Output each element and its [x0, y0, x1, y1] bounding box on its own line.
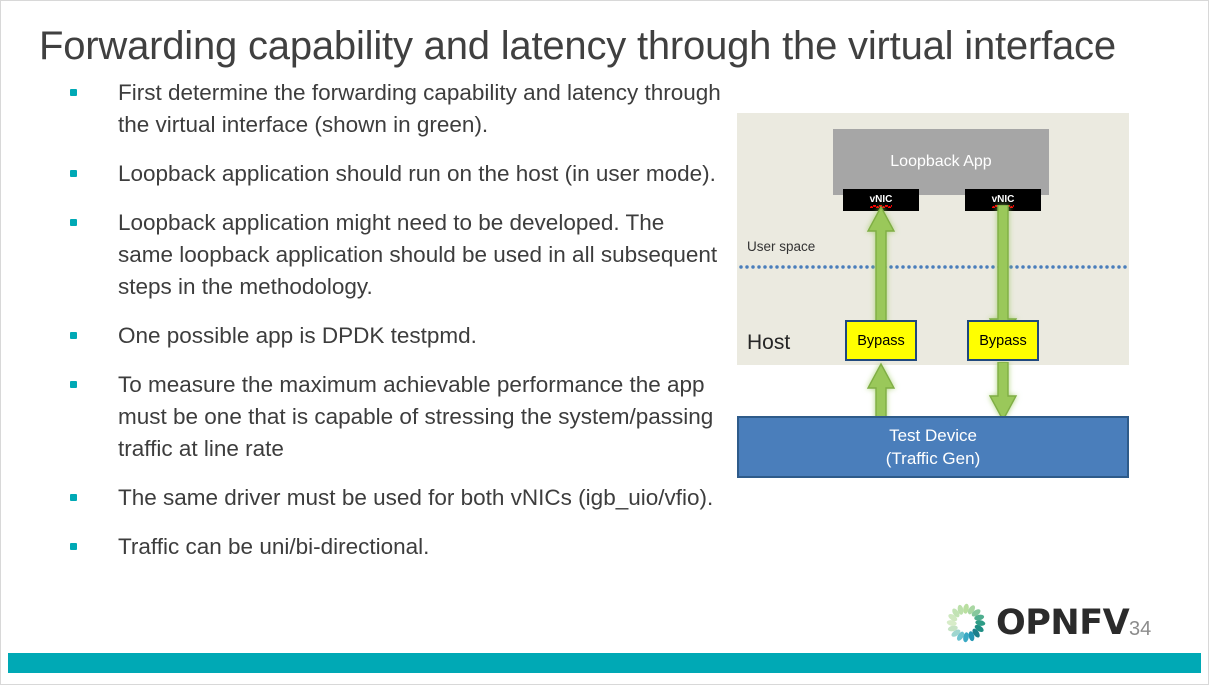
arrow-right-lower	[987, 362, 1019, 422]
list-item-text: First determine the forwarding capabilit…	[118, 77, 723, 141]
test-device-line2: (Traffic Gen)	[886, 447, 980, 470]
bullet-marker-icon	[70, 89, 77, 96]
slide: Forwarding capability and latency throug…	[0, 0, 1209, 685]
footer-accent-bar	[8, 653, 1201, 673]
user-kernel-separator	[739, 265, 1129, 269]
test-device-box: Test Device (Traffic Gen)	[737, 416, 1129, 478]
list-item-text: The same driver must be used for both vN…	[118, 482, 723, 514]
bypass-label: Bypass	[857, 333, 905, 349]
list-item: One possible app is DPDK testpmd.	[63, 320, 723, 352]
bypass-box-right: Bypass	[967, 320, 1039, 361]
list-item: First determine the forwarding capabilit…	[63, 77, 723, 141]
bullet-marker-icon	[70, 332, 77, 339]
opnfv-wordmark: OPNFV	[996, 603, 1129, 643]
list-item-text: Traffic can be uni/bi-directional.	[118, 531, 723, 563]
list-item: To measure the maximum achievable perfor…	[63, 369, 723, 465]
page-title: Forwarding capability and latency throug…	[39, 21, 1149, 71]
list-item: Loopback application should run on the h…	[63, 158, 723, 190]
bullet-marker-icon	[70, 170, 77, 177]
architecture-diagram: Loopback App vNIC vNIC User space Host B…	[737, 113, 1131, 479]
page-number: 34	[1129, 618, 1151, 641]
list-item: Loopback application might need to be de…	[63, 207, 723, 303]
user-space-label: User space	[747, 239, 815, 254]
bypass-label: Bypass	[979, 333, 1027, 349]
opnfv-petal-burst-icon	[944, 602, 988, 644]
bullet-marker-icon	[70, 494, 77, 501]
bullet-marker-icon	[70, 543, 77, 550]
list-item-text: Loopback application should run on the h…	[118, 158, 723, 190]
list-item-text: Loopback application might need to be de…	[118, 207, 723, 303]
list-item-text: To measure the maximum achievable perfor…	[118, 369, 723, 465]
bullet-marker-icon	[70, 381, 77, 388]
bullet-list: First determine the forwarding capabilit…	[63, 77, 723, 580]
opnfv-logo: OPNFV	[944, 602, 1129, 644]
bullet-marker-icon	[70, 219, 77, 226]
list-item: The same driver must be used for both vN…	[63, 482, 723, 514]
host-label: Host	[747, 331, 790, 355]
bypass-box-left: Bypass	[845, 320, 917, 361]
list-item: Traffic can be uni/bi-directional.	[63, 531, 723, 563]
list-item-text: One possible app is DPDK testpmd.	[118, 320, 723, 352]
test-device-line1: Test Device	[889, 424, 977, 447]
loopback-app-box: Loopback App	[833, 129, 1049, 195]
arrow-left-lower	[865, 362, 897, 422]
loopback-app-label: Loopback App	[890, 153, 991, 171]
